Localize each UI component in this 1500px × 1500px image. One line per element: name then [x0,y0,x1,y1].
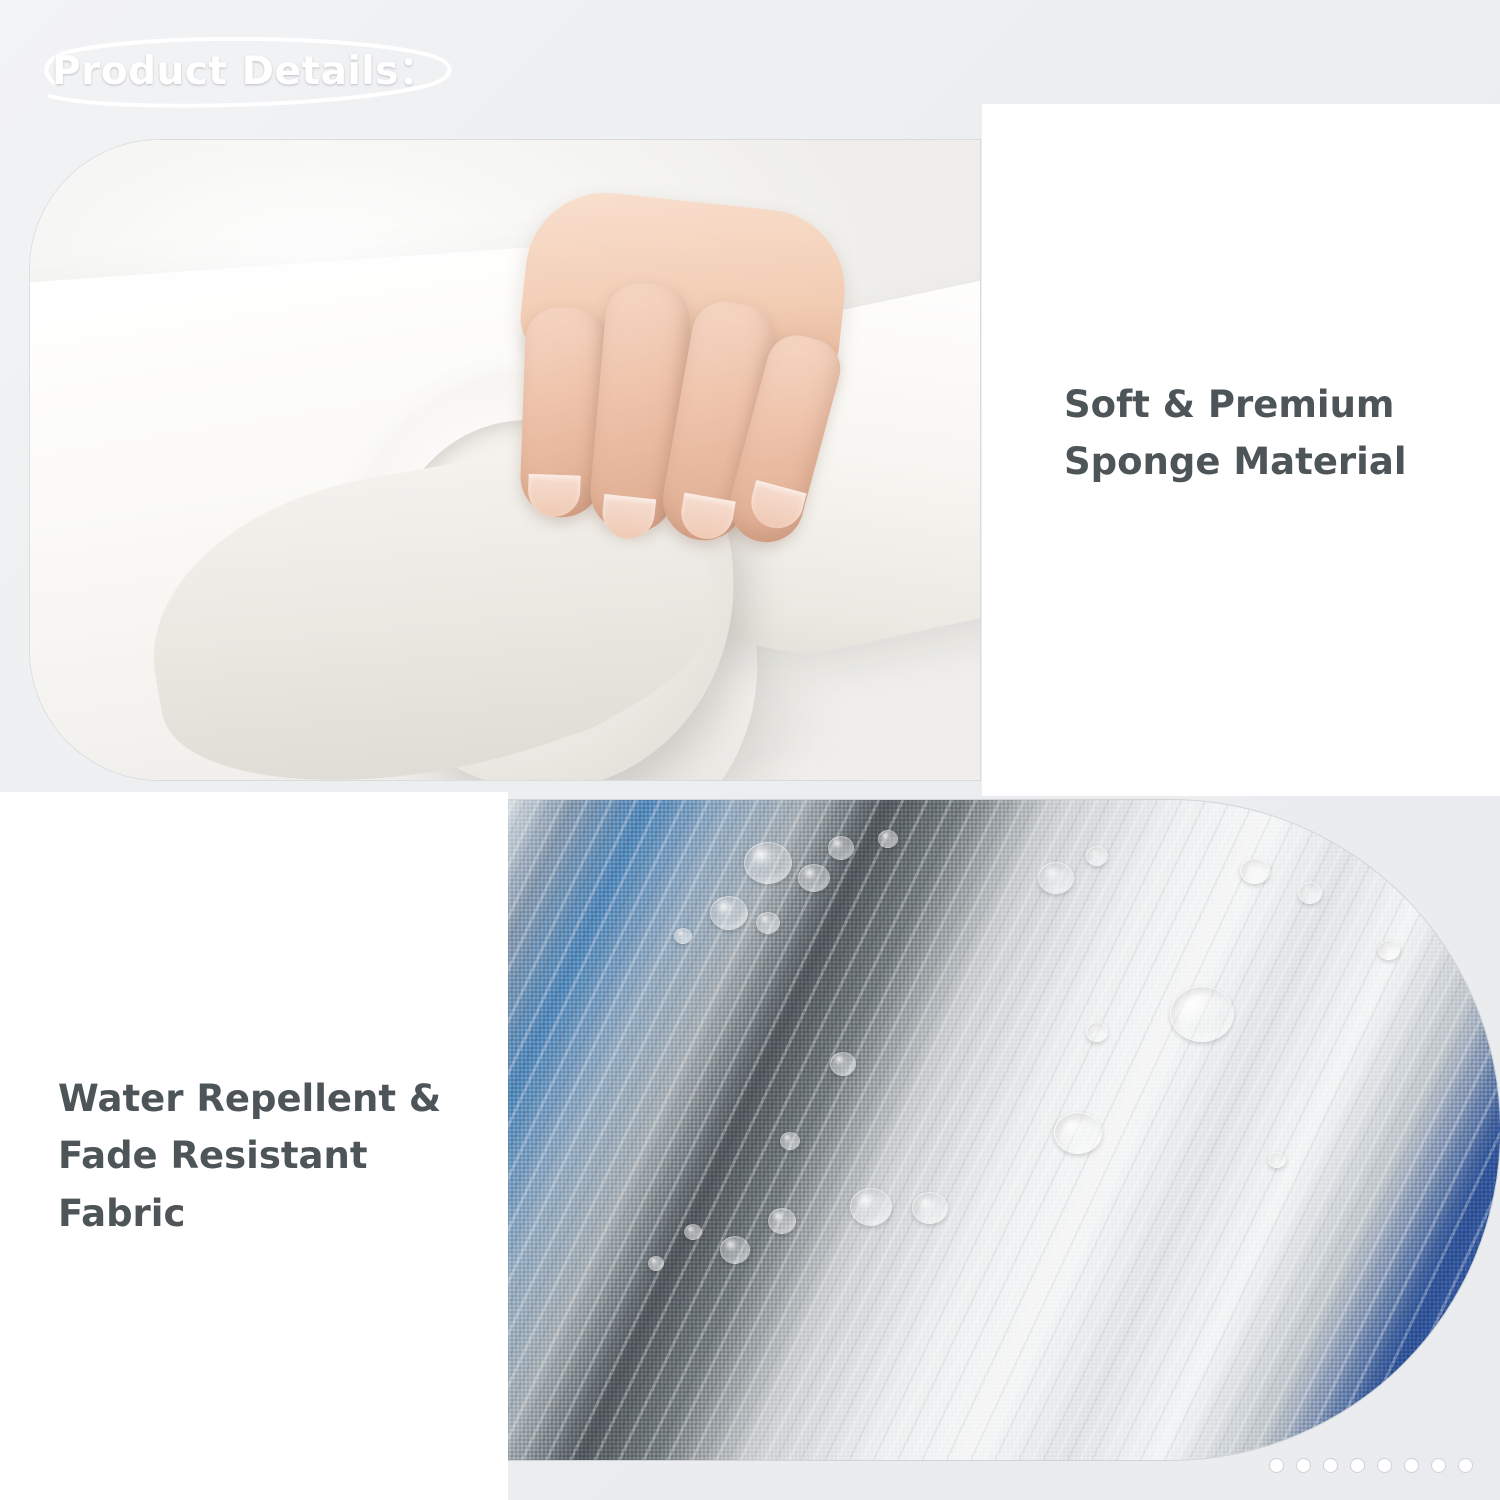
water-droplet [710,896,748,930]
water-droplet [648,1256,664,1271]
sponge-foam-photo [30,140,980,780]
pagination-dot[interactable] [1324,1459,1337,1472]
fabric-water-droplets-photo [498,800,1500,1460]
water-droplet [684,1224,702,1240]
water-droplet [1086,1022,1108,1042]
pagination-dot[interactable] [1405,1459,1418,1472]
water-droplet [1240,858,1270,884]
caption-top-line2: Sponge Material [1064,433,1464,490]
pagination-dot[interactable] [1270,1459,1283,1472]
product-details-page: Product Details： Soft & Premium Sponge M… [0,0,1500,1500]
pagination-dot[interactable] [1297,1459,1310,1472]
pagination-dots[interactable] [1270,1459,1472,1472]
pagination-dot[interactable] [1432,1459,1445,1472]
caption-top-text: Soft & Premium Sponge Material [1064,376,1464,491]
water-droplet [1038,862,1074,894]
page-title: Product Details： [34,34,464,110]
water-droplet [878,830,898,848]
water-droplet [798,864,830,892]
caption-top-line1: Soft & Premium [1064,376,1464,433]
water-droplet [850,1188,892,1226]
water-droplet [756,912,780,934]
fabric-weave-texture [498,800,1500,1460]
caption-card-top: Soft & Premium Sponge Material [982,104,1500,796]
water-droplet [1086,846,1108,866]
water-droplet [1298,882,1322,904]
water-droplet [768,1208,796,1234]
page-title-text: Product Details： [52,40,438,96]
water-droplet [720,1236,750,1264]
water-droplet [744,842,792,884]
caption-card-bottom: Water Repellent & Fade Resistant Fabric [0,792,508,1500]
water-droplet [1268,1152,1286,1168]
caption-bottom-text: Water Repellent & Fade Resistant Fabric [58,1070,498,1242]
water-droplet [780,1132,800,1150]
water-droplet [1378,940,1400,960]
water-droplet [912,1192,948,1224]
pagination-dot[interactable] [1351,1459,1364,1472]
caption-bottom-line2: Fade Resistant Fabric [58,1127,498,1242]
pagination-dot[interactable] [1378,1459,1391,1472]
water-droplet [828,836,854,860]
water-droplet [1170,986,1234,1042]
water-droplet [1054,1112,1102,1154]
water-droplet [674,928,692,944]
caption-bottom-line1: Water Repellent & [58,1070,498,1127]
pagination-dot[interactable] [1459,1459,1472,1472]
hand-graphic [484,244,847,607]
fingernail-middle [600,494,656,541]
water-droplet [830,1052,856,1076]
